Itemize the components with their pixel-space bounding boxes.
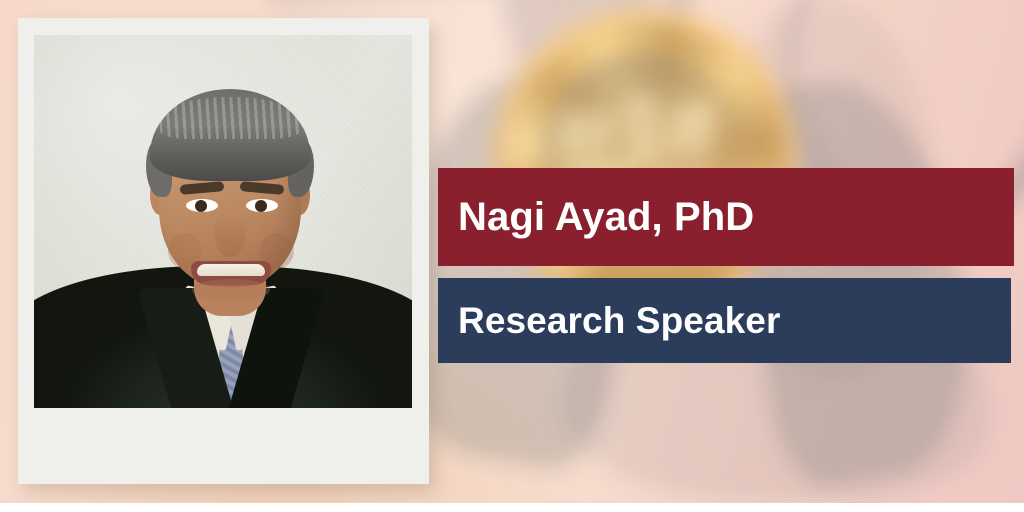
- portrait-iris-left: [195, 200, 207, 212]
- speaker-name-banner: Nagi Ayad, PhD: [438, 168, 1014, 266]
- portrait-eye-left: [186, 199, 218, 212]
- portrait-iris-right: [255, 200, 267, 212]
- portrait-eye-right: [246, 199, 278, 212]
- portrait-teeth: [197, 264, 265, 276]
- speaker-role-banner: Research Speaker: [438, 278, 1011, 363]
- wafer-die: [560, 110, 618, 148]
- portrait-frame: [18, 18, 429, 484]
- speaker-card: Nagi Ayad, PhD Research Speaker: [0, 0, 1024, 512]
- portrait-nose: [215, 213, 245, 257]
- portrait-chin: [192, 279, 270, 301]
- wafer-die: [670, 104, 714, 158]
- portrait-photo: [34, 35, 412, 408]
- wafer-die: [628, 94, 662, 164]
- bottom-white-strip: [0, 503, 1024, 512]
- speaker-role-text: Research Speaker: [458, 300, 780, 342]
- speaker-name-text: Nagi Ayad, PhD: [458, 195, 754, 240]
